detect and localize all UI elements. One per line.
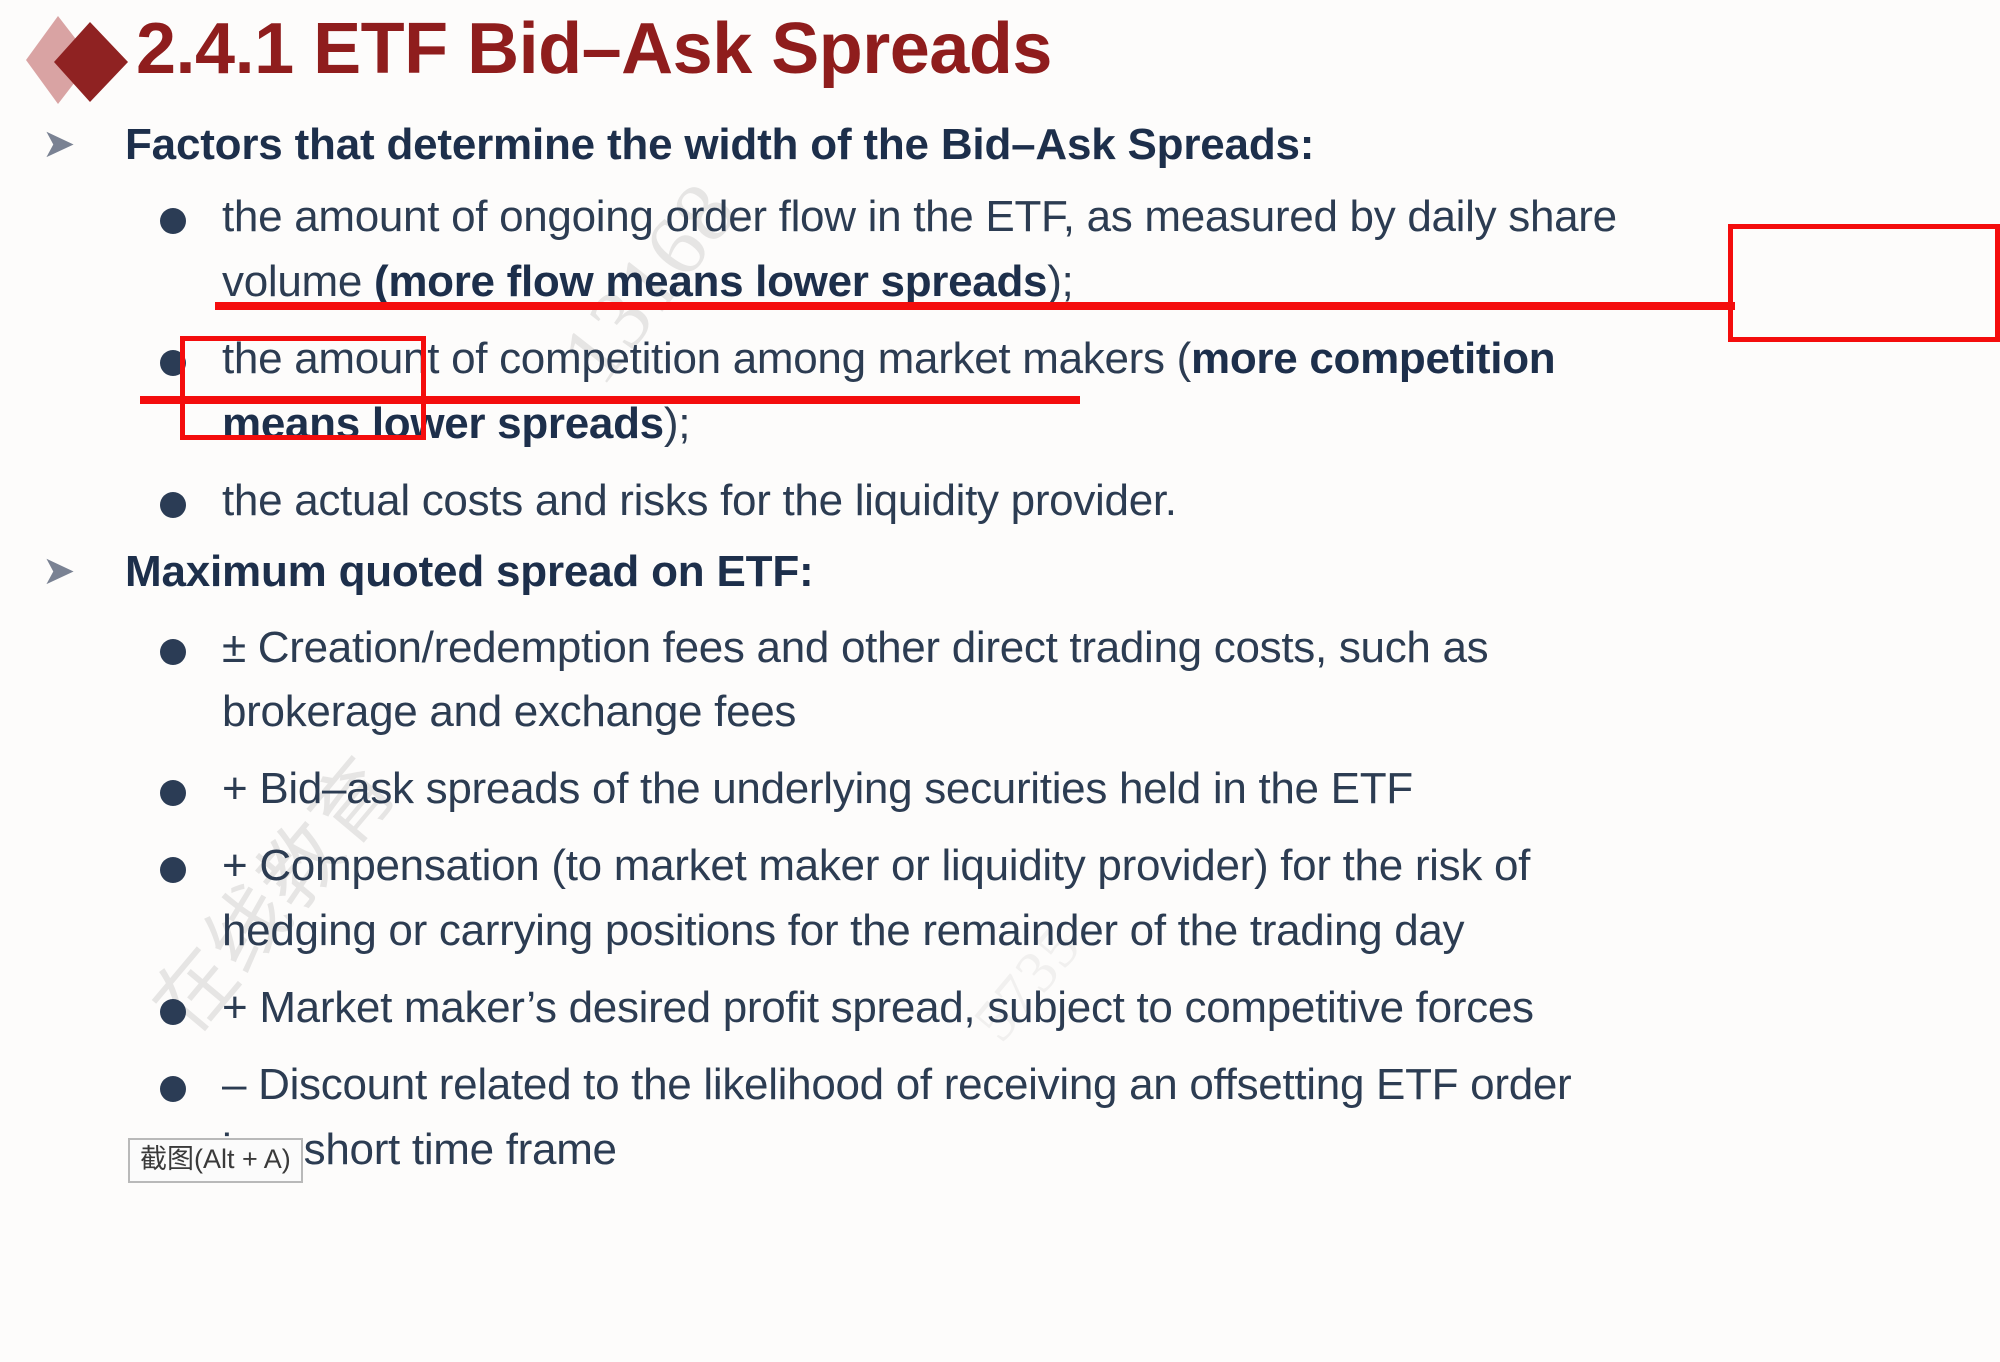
bullet-dot-icon [160, 208, 186, 234]
chevron-right-icon: ➤ [42, 124, 76, 164]
list-item: the amount of ongoing order flow in the … [0, 186, 2000, 249]
bullet-text-tail: ); [1047, 257, 1073, 306]
bullet-text-boxed-daily-share: daily share [1407, 192, 1616, 241]
slide-body: ➤ Factors that determine the width of th… [0, 118, 2000, 1182]
bullet-text-plain: the amount of competition among market m… [222, 334, 1191, 383]
section-heading-maximum-spread: ➤ Maximum quoted spread on ETF: [0, 545, 2000, 607]
bullet-text-bold: more competition [1191, 334, 1555, 383]
slide-title-row: 2.4.1 ETF Bid–Ask Spreads [0, 0, 2000, 110]
bullet-line-1: ± Creation/redemption fees and other dir… [222, 617, 2000, 680]
list-item: + Market maker’s desired profit spread, … [0, 977, 2000, 1040]
list-item: + Compensation (to market maker or liqui… [0, 835, 2000, 898]
bullet-line-1: the amount of competition among market m… [222, 328, 2000, 391]
list-item: the actual costs and risks for the liqui… [0, 470, 2000, 533]
list-item: + Bid–ask spreads of the underlying secu… [0, 758, 2000, 821]
bullet-text-bold: means lower spreads [222, 399, 664, 448]
bullet-dot-icon [160, 1076, 186, 1102]
section-heading-label: Maximum quoted spread on ETF: [125, 547, 813, 596]
bullet-text-plain: the amount of ongoing order flow in the … [222, 192, 1407, 241]
section-heading-factors: ➤ Factors that determine the width of th… [0, 118, 2000, 180]
bullet-dot-icon [160, 780, 186, 806]
bullet-line-1: the amount of ongoing order flow in the … [222, 186, 2000, 249]
bullet-dot-icon [160, 857, 186, 883]
section-heading-label: Factors that determine the width of the … [125, 120, 1314, 169]
list-item: – Discount related to the likelihood of … [0, 1054, 2000, 1117]
bullet-line-2: brokerage and exchange fees [0, 681, 2000, 744]
bullet-dot-icon [160, 999, 186, 1025]
chevron-right-icon: ➤ [42, 551, 76, 591]
bullet-text-boxed-volume: volume [222, 257, 362, 306]
bullet-line-2: means lower spreads); [0, 393, 2000, 456]
diamond-icon [24, 12, 132, 108]
screenshot-hotkey-tooltip: 截图(Alt + A) [128, 1138, 303, 1183]
bullet-line-2: hedging or carrying positions for the re… [0, 900, 2000, 963]
page-title: 2.4.1 ETF Bid–Ask Spreads [136, 8, 1052, 90]
list-item: the amount of competition among market m… [0, 328, 2000, 391]
bullet-line-2: volume (more flow means lower spreads); [0, 251, 2000, 314]
bullet-dot-icon [160, 639, 186, 665]
bullet-line-1: + Market maker’s desired profit spread, … [222, 977, 2000, 1040]
bullet-line-1: the actual costs and risks for the liqui… [222, 470, 2000, 533]
bullet-line-1: – Discount related to the likelihood of … [222, 1054, 2000, 1117]
bullet-text-tail: ); [664, 399, 690, 448]
bullet-line-1: + Bid–ask spreads of the underlying secu… [222, 758, 2000, 821]
bullet-dot-icon [160, 350, 186, 376]
list-item: ± Creation/redemption fees and other dir… [0, 617, 2000, 680]
bullet-dot-icon [160, 492, 186, 518]
bullet-line-1: + Compensation (to market maker or liqui… [222, 835, 2000, 898]
bullet-text-bold: (more flow means lower spreads [362, 257, 1047, 306]
